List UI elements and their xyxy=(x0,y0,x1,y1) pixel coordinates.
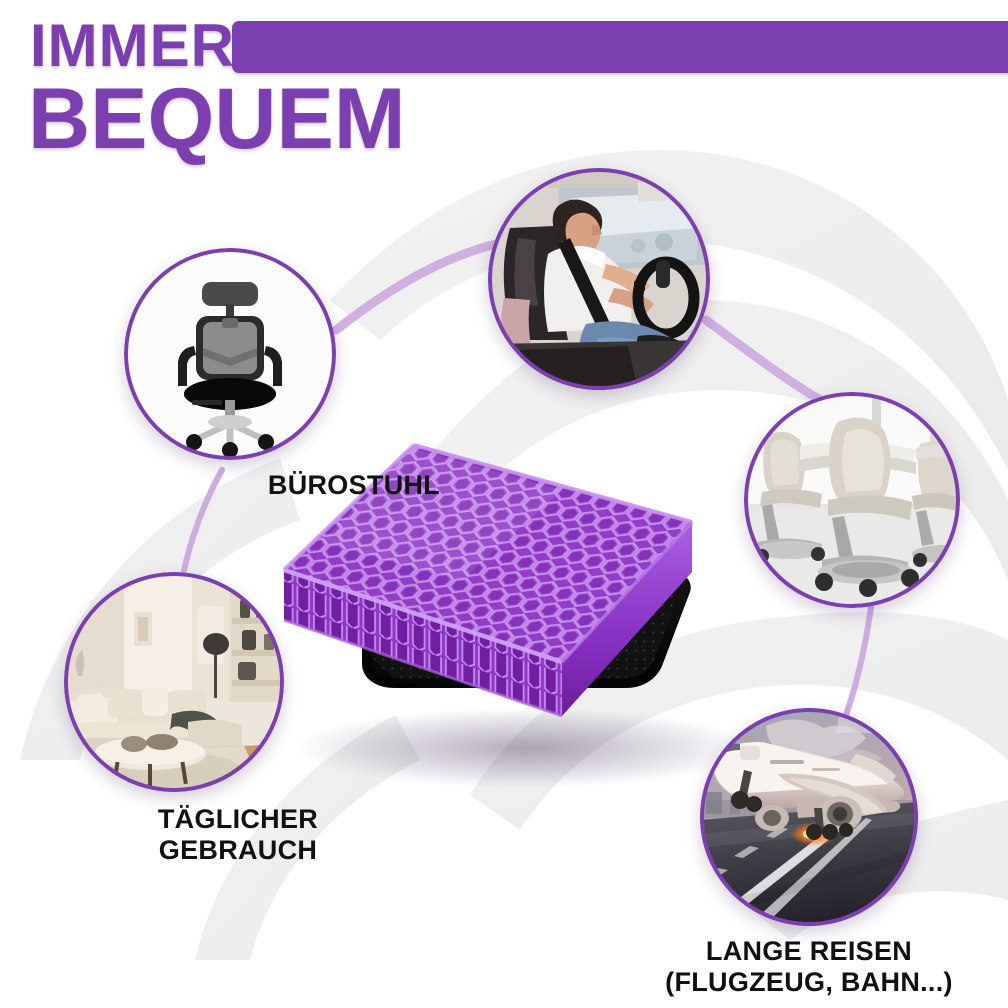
headline-line-2: BEQUEM xyxy=(28,76,405,162)
connector-office-to-car xyxy=(336,243,500,330)
bubble-school xyxy=(744,392,960,608)
bubble-office-chair xyxy=(124,248,336,460)
infographic-canvas: IMMER BEQUEM xyxy=(0,0,1008,1008)
connector-school-to-travel xyxy=(846,600,872,715)
airplane-takeoff-photo xyxy=(700,708,918,926)
caption-car-seat: AUTOSITZ xyxy=(926,396,1008,427)
caption-daily-use: TÄGLICHER GEBRAUCH xyxy=(88,804,388,866)
bubble-car-seat xyxy=(488,168,710,390)
classroom-chairs-photo xyxy=(744,392,960,608)
headline-accent-bar xyxy=(232,21,1008,73)
bubble-living-room xyxy=(64,572,284,792)
bubble-airplane xyxy=(700,708,918,926)
caption-office-chair: BÜROSTUHL xyxy=(198,470,510,501)
headline-line-1: IMMER xyxy=(30,16,235,76)
man-driving-car-photo xyxy=(488,168,710,390)
living-room-photo xyxy=(64,572,284,792)
office-chair-photo xyxy=(124,248,336,460)
headline-block: IMMER BEQUEM xyxy=(0,0,1008,175)
connector-car-to-school xyxy=(706,320,830,405)
product-shadow xyxy=(296,708,752,788)
caption-long-travel: LANGE REISEN (FLUGZEUG, BAHN...) xyxy=(638,936,980,998)
